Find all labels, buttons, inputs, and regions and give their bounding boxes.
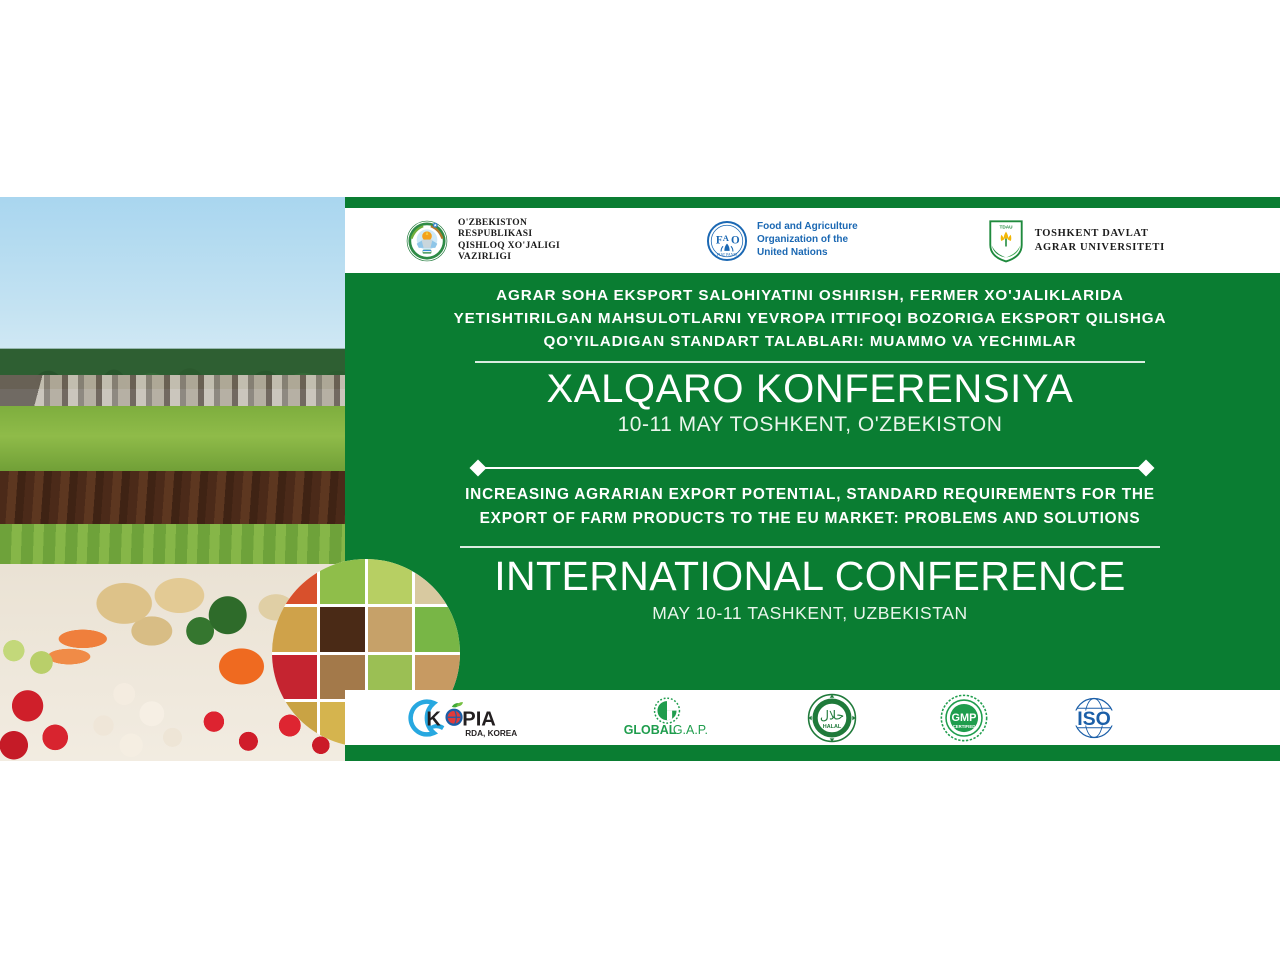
fao-logo-icon: F A O FIAT PANIS	[706, 220, 748, 262]
uzbekistan-state-emblem-icon	[405, 219, 449, 263]
tilled-soil-region	[0, 471, 345, 527]
ministry-logo-text: O'ZBEKISTON RESPUBLIKASI QISHLOQ XO'JALI…	[458, 218, 560, 263]
halal-arabic-text: حلال	[820, 708, 845, 722]
diamond-divider	[472, 461, 1152, 475]
fao-logo-block: F A O FIAT PANIS Food and Agriculture Or…	[706, 220, 858, 262]
iso-logo-icon: ISO	[1061, 694, 1127, 742]
gmp-logo-block: GMP CERTIFIED	[939, 693, 989, 743]
svg-text:A: A	[723, 233, 730, 243]
tdau-logo-text: TOSHKENT DAVLAT AGRAR UNIVERSITETI	[1035, 227, 1165, 254]
svg-text:O: O	[731, 234, 740, 246]
uzbek-subtitle: AGRAR SOHA EKSPORT SALOHIYATINI OSHIRISH…	[450, 285, 1170, 353]
divider-line-bottom	[460, 546, 1160, 548]
fao-line-1: Food and Agriculture	[757, 221, 858, 234]
divider-line-top	[475, 361, 1145, 363]
gmp-logo-icon: GMP CERTIFIED	[939, 693, 989, 743]
crop-field-upper	[0, 406, 345, 474]
english-date-location: MAY 10-11 TASHKENT, UZBEKISTAN	[400, 603, 1220, 624]
svg-text:FIAT PANIS: FIAT PANIS	[717, 252, 737, 257]
uzbek-title: XALQARO KONFERENSIYA	[400, 367, 1220, 412]
svg-text:GLOBAL: GLOBAL	[624, 723, 677, 737]
diamond-right-icon	[1138, 460, 1155, 477]
fao-line-2: Organization of the	[757, 234, 858, 247]
english-subtitle: INCREASING AGRARIAN EXPORT POTENTIAL, ST…	[445, 483, 1175, 531]
svg-text:K: K	[426, 708, 441, 730]
gmp-label-text: GMP	[952, 712, 977, 724]
globalgap-logo-icon: GLOBAL G.A.P.	[619, 696, 715, 740]
fao-logo-text: Food and Agriculture Organization of the…	[757, 221, 858, 259]
english-title: INTERNATIONAL CONFERENCE	[400, 553, 1220, 600]
iso-logo-block: ISO	[1061, 694, 1127, 742]
kopia-sub-text: RDA, KOREA	[465, 728, 517, 737]
footer-logo-row: K PIA RDA, KOREA GLOBAL G.A.	[345, 690, 1280, 745]
tdau-logo-block: TDAU TOSHKENT DAVLAT AGRAR UNIVERSITETI	[986, 219, 1165, 263]
halal-logo-icon: حلال HALAL	[807, 693, 857, 743]
svg-text:F: F	[716, 234, 723, 246]
kopia-logo-icon: K PIA RDA, KOREA	[407, 697, 519, 739]
svg-text:PIA: PIA	[462, 708, 496, 730]
tdau-line-1: TOSHKENT DAVLAT	[1035, 227, 1165, 241]
fao-line-3: United Nations	[757, 247, 858, 260]
tdau-line-2: AGRAR UNIVERSITETI	[1035, 241, 1165, 255]
banner-content: AGRAR SOHA EKSPORT SALOHIYATINI OSHIRISH…	[345, 273, 1280, 690]
uzbek-date-location: 10-11 MAY TOSHKENT, O'ZBEKISTON	[400, 413, 1220, 437]
gmp-sub-text: CERTIFIED	[953, 724, 976, 729]
collage-tile	[320, 607, 365, 652]
divider-bar	[480, 467, 1144, 469]
tdau-logo-icon: TDAU	[986, 219, 1026, 263]
tdau-badge-text: TDAU	[999, 224, 1013, 229]
halal-label-text: HALAL	[823, 724, 842, 730]
ministry-line-4: VAZIRLIGI	[458, 252, 560, 263]
kopia-logo-block: K PIA RDA, KOREA	[407, 697, 519, 739]
header-green-strip	[345, 197, 1280, 208]
conference-banner: O'ZBEKISTON RESPUBLIKASI QISHLOQ XO'JALI…	[0, 197, 1280, 761]
globalgap-logo-block: GLOBAL G.A.P.	[619, 696, 715, 740]
svg-text:G.A.P.: G.A.P.	[673, 723, 708, 737]
halal-logo-block: حلال HALAL	[807, 693, 857, 743]
ministry-line-1: O'ZBEKISTON	[458, 218, 560, 229]
banner-page: O'ZBEKISTON RESPUBLIKASI QISHLOQ XO'JALI…	[0, 0, 1280, 960]
collage-tile	[368, 607, 413, 652]
ministry-logo-block: O'ZBEKISTON RESPUBLIKASI QISHLOQ XO'JALI…	[405, 218, 560, 263]
ministry-line-3: QISHLOQ XO'JALIGI	[458, 241, 560, 252]
ministry-line-2: RESPUBLIKASI	[458, 229, 560, 240]
iso-label-text: ISO	[1077, 707, 1111, 729]
footer-green-strip	[345, 745, 1280, 761]
header-logo-row: O'ZBEKISTON RESPUBLIKASI QISHLOQ XO'JALI…	[345, 208, 1280, 273]
